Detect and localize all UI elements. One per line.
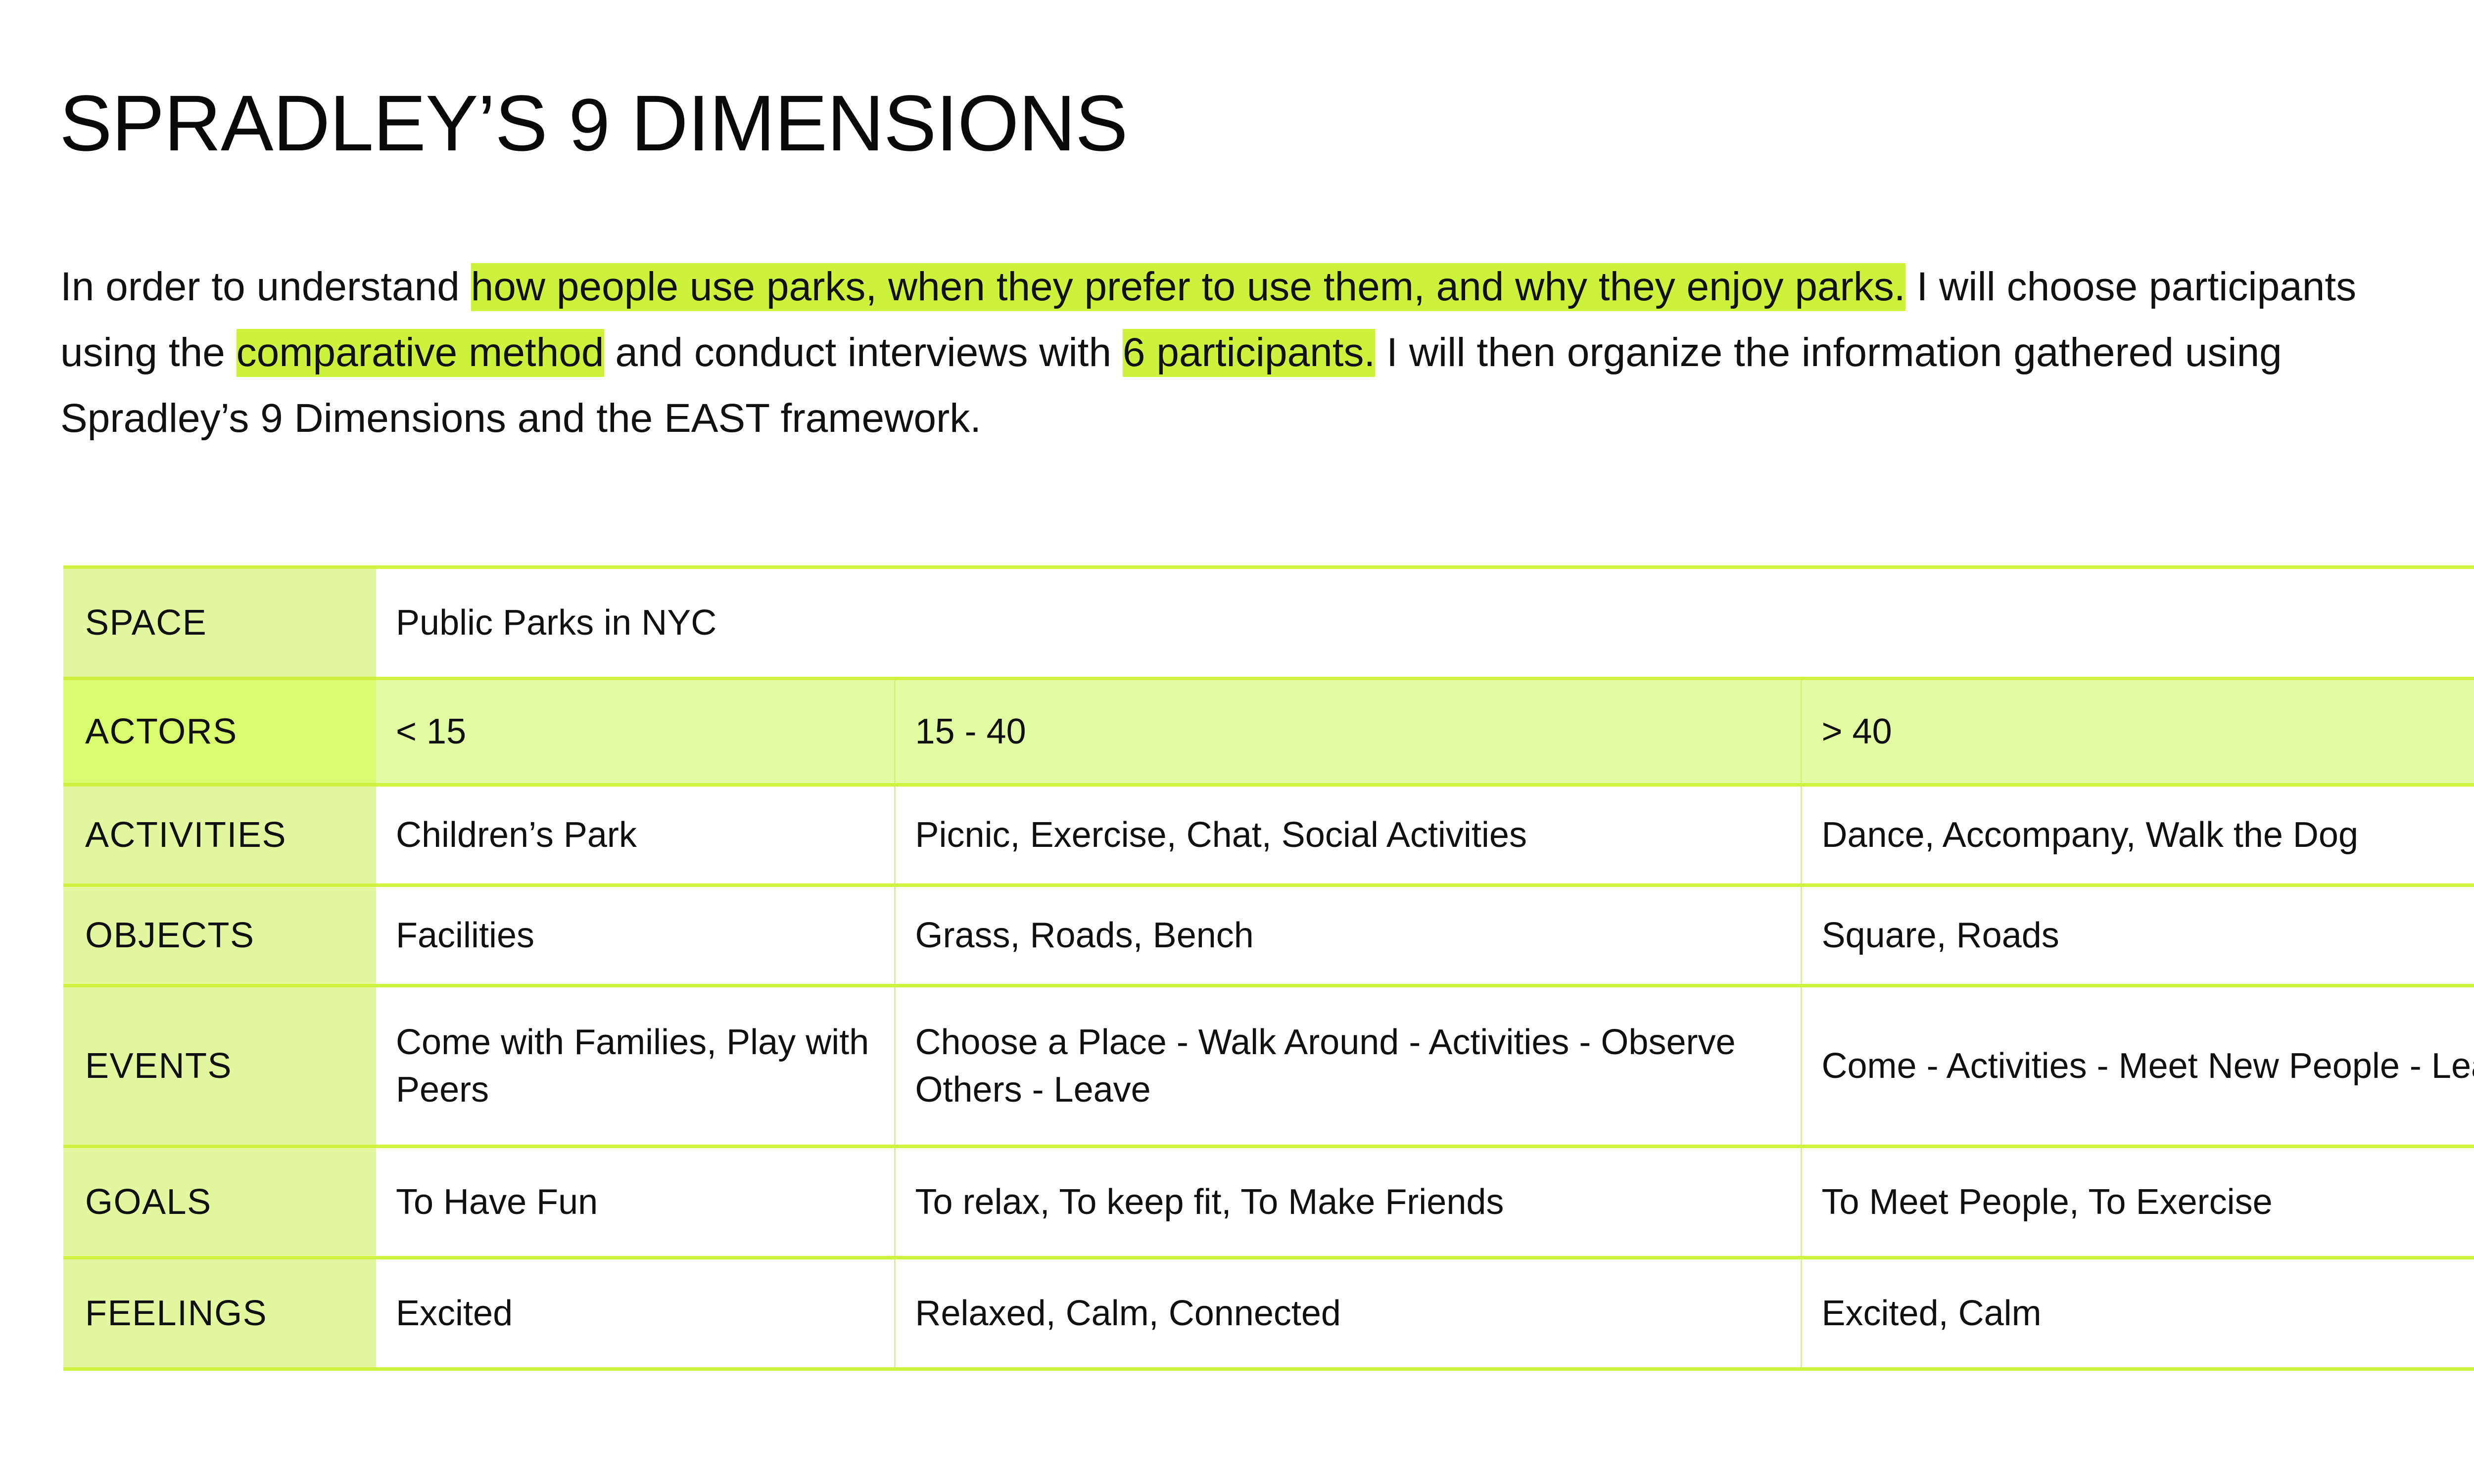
cell-goals-3: To Meet People, To Exercise bbox=[1801, 1147, 2474, 1258]
cell-objects-3: Square, Roads bbox=[1801, 885, 2474, 986]
cell-objects-1: Facilities bbox=[376, 885, 895, 986]
cell-feelings-2: Relaxed, Calm, Connected bbox=[895, 1258, 1801, 1369]
cell-events-1: Come with Families, Play with Peers bbox=[376, 986, 895, 1147]
intro-highlight-5: 6 participants. bbox=[1123, 329, 1376, 377]
cell-activities-3: Dance, Accompany, Walk the Dog bbox=[1801, 785, 2474, 885]
intro-text-4: and conduct interviews with bbox=[604, 330, 1123, 375]
page-title: SPRADLEY’S 9 DIMENSIONS bbox=[59, 84, 1128, 163]
cell-actors-1: < 15 bbox=[376, 679, 895, 785]
dimension-label-events: EVENTS bbox=[63, 986, 376, 1147]
cell-events-3: Come - Activities - Meet New People - Le… bbox=[1801, 986, 2474, 1147]
table-row-objects: OBJECTSFacilitiesGrass, Roads, BenchSqua… bbox=[63, 885, 2474, 986]
title-text-after: DIMENSIONS bbox=[610, 79, 1128, 167]
dimension-label-space: SPACE bbox=[63, 567, 376, 679]
intro-highlight-1: how people use parks, when they prefer t… bbox=[471, 263, 1905, 311]
slide-canvas: SPRADLEY’S 9 DIMENSIONS In order to unde… bbox=[0, 0, 2474, 1484]
cell-feelings-1: Excited bbox=[376, 1258, 895, 1369]
table-row-activities: ACTIVITIESChildren’s ParkPicnic, Exercis… bbox=[63, 785, 2474, 885]
cell-space-1: Public Parks in NYC bbox=[376, 567, 2474, 679]
dimension-label-activities: ACTIVITIES bbox=[63, 785, 376, 885]
intro-highlight-3: comparative method bbox=[237, 329, 604, 377]
table-row-space: SPACEPublic Parks in NYC bbox=[63, 567, 2474, 679]
cell-objects-2: Grass, Roads, Bench bbox=[895, 885, 1801, 986]
dimension-label-actors: ACTORS bbox=[63, 679, 376, 785]
cell-activities-1: Children’s Park bbox=[376, 785, 895, 885]
cell-actors-3: > 40 bbox=[1801, 679, 2474, 785]
dimension-label-feelings: FEELINGS bbox=[63, 1258, 376, 1369]
cell-feelings-3: Excited, Calm bbox=[1801, 1258, 2474, 1369]
cell-goals-2: To relax, To keep fit, To Make Friends bbox=[895, 1147, 1801, 1258]
intro-text-0: In order to understand bbox=[60, 264, 471, 309]
title-numeral-nine: 9 bbox=[569, 83, 609, 166]
cell-goals-1: To Have Fun bbox=[376, 1147, 895, 1258]
title-text-before: SPRADLEY’S bbox=[59, 79, 569, 167]
table-row-events: EVENTSCome with Families, Play with Peer… bbox=[63, 986, 2474, 1147]
intro-paragraph: In order to understand how people use pa… bbox=[60, 254, 2386, 451]
dimension-label-objects: OBJECTS bbox=[63, 885, 376, 986]
cell-activities-2: Picnic, Exercise, Chat, Social Activitie… bbox=[895, 785, 1801, 885]
table-row-feelings: FEELINGSExcitedRelaxed, Calm, ConnectedE… bbox=[63, 1258, 2474, 1369]
cell-actors-2: 15 - 40 bbox=[895, 679, 1801, 785]
table-row-actors: ACTORS< 1515 - 40> 40 bbox=[63, 679, 2474, 785]
spradley-dimensions-table: SPACEPublic Parks in NYCACTORS< 1515 - 4… bbox=[63, 565, 2474, 1371]
table-row-goals: GOALSTo Have FunTo relax, To keep fit, T… bbox=[63, 1147, 2474, 1258]
cell-events-2: Choose a Place - Walk Around - Activitie… bbox=[895, 986, 1801, 1147]
dimension-label-goals: GOALS bbox=[63, 1147, 376, 1258]
